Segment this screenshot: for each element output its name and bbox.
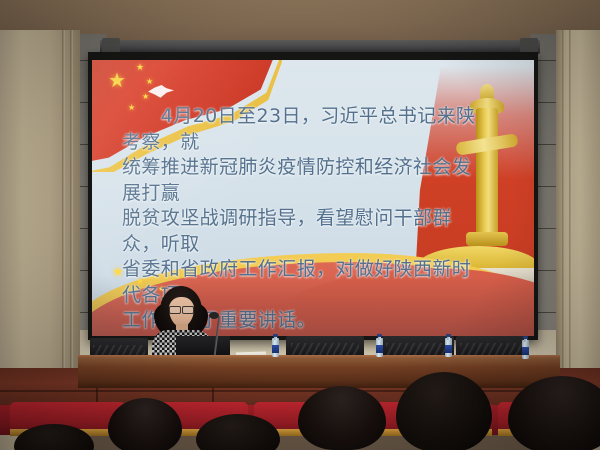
presenter-table: [78, 358, 560, 388]
water-bottle: [445, 334, 452, 357]
flag-star: ★: [142, 93, 149, 101]
flag-star: ★: [146, 78, 153, 86]
water-bottle: [522, 336, 529, 359]
audience-head: [298, 386, 386, 450]
flag-star: ★: [136, 64, 144, 73]
water-bottle: [272, 334, 279, 357]
glasses-icon: [169, 306, 194, 312]
lecture-hall-photo: ★ ★ ★ ★ ★: [0, 0, 600, 450]
flag-star: ★: [108, 70, 126, 90]
water-bottle: [376, 334, 383, 357]
